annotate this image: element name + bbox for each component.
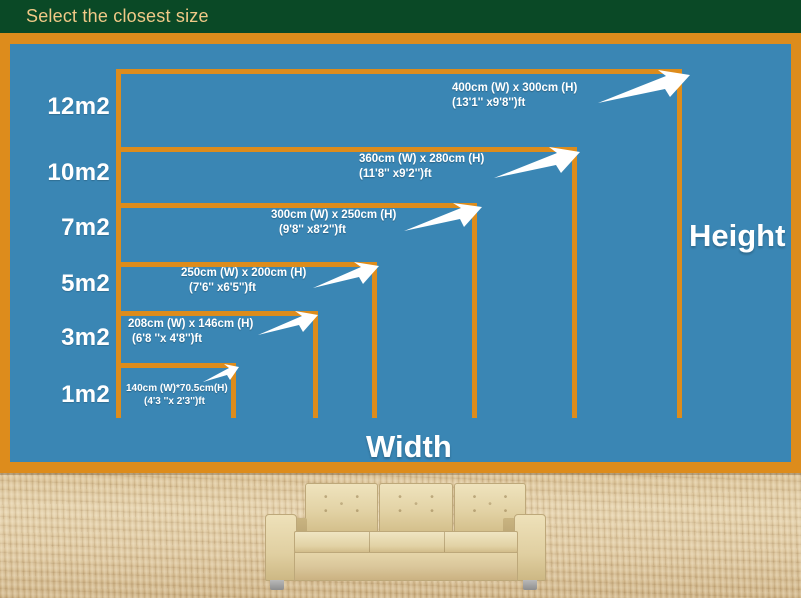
sofa-seat-cushions [294, 531, 518, 553]
three-seat-sofa [249, 473, 559, 598]
callout-5m2: 250cm (W) x 200cm (H) (7'6'' x6'5'')ft [181, 266, 306, 296]
row-label-1m2: 1m2 [18, 381, 110, 409]
callout-5m2-imperial: (7'6'' x6'5'')ft [181, 281, 306, 296]
axis-label-width: Width [366, 429, 452, 465]
page-title: Select the closest size [26, 6, 209, 27]
callout-3m2-imperial: (6'8 ''x 4'8'')ft [128, 332, 253, 347]
arrow-to-10m2 [494, 147, 580, 183]
callout-7m2-metric: 300cm (W) x 250cm (H) [271, 209, 396, 221]
sofa-arm-right [514, 514, 546, 581]
sofa-arm-left [265, 514, 297, 581]
size-selector-graphic: Select the closest size 12m2 10m2 7m2 5m… [0, 0, 801, 598]
sofa-seat-divider [369, 532, 370, 552]
callout-12m2: 400cm (W) x 300cm (H) (13'1'' x9'8'')ft [452, 81, 577, 111]
callout-12m2-metric: 400cm (W) x 300cm (H) [452, 82, 577, 94]
sofa-base [294, 552, 518, 581]
callout-5m2-metric: 250cm (W) x 200cm (H) [181, 267, 306, 279]
sofa-tufting [384, 488, 448, 527]
sofa-foot-right [523, 580, 537, 590]
axis-label-height: Height [689, 218, 785, 254]
callout-1m2-imperial: (4'3 ''x 2'3'')ft [126, 395, 228, 408]
arrow-to-7m2 [404, 203, 482, 236]
callout-7m2-imperial: (9'8'' x8'2'')ft [271, 223, 396, 238]
row-label-3m2: 3m2 [18, 324, 110, 352]
callout-12m2-imperial: (13'1'' x9'8'')ft [452, 96, 577, 111]
row-label-7m2: 7m2 [18, 214, 110, 242]
callout-10m2-imperial: (11'8'' x9'2'')ft [359, 167, 484, 182]
callout-10m2: 360cm (W) x 280cm (H) (11'8'' x9'2'')ft [359, 152, 484, 182]
callout-3m2-metric: 208cm (W) x 146cm (H) [128, 318, 253, 330]
arrow-to-12m2 [598, 70, 690, 108]
sofa-tufting [310, 488, 373, 527]
sofa-foot-left [270, 580, 284, 590]
sofa-backrest-left [305, 483, 378, 532]
callout-10m2-metric: 360cm (W) x 280cm (H) [359, 153, 484, 165]
arrow-to-3m2 [258, 311, 318, 339]
row-label-5m2: 5m2 [18, 270, 110, 298]
sofa-backrest-middle [379, 483, 453, 532]
callout-1m2: 140cm (W)*70.5cm(H) (4'3 ''x 2'3'')ft [126, 382, 228, 408]
row-label-12m2: 12m2 [18, 93, 110, 121]
callout-7m2: 300cm (W) x 250cm (H) (9'8'' x8'2'')ft [271, 208, 396, 238]
sofa-seat-divider [444, 532, 445, 552]
row-label-10m2: 10m2 [18, 159, 110, 187]
callout-1m2-metric: 140cm (W)*70.5cm(H) [126, 383, 228, 394]
arrow-to-5m2 [313, 262, 379, 292]
callout-3m2: 208cm (W) x 146cm (H) (6'8 ''x 4'8'')ft [128, 317, 253, 347]
arrow-to-1m2 [203, 364, 239, 384]
